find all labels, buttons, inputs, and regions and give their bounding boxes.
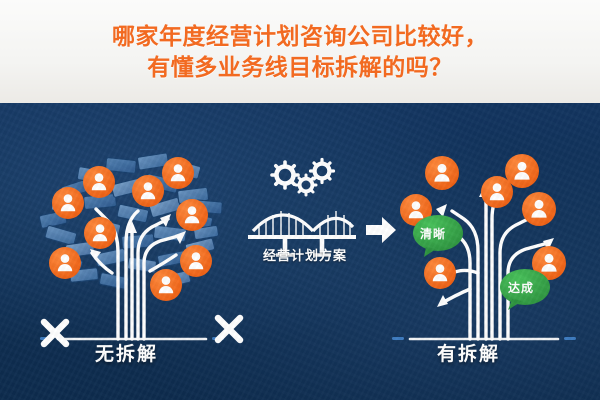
person-badge [505, 154, 539, 188]
title-line-2: 有懂多业务线目标拆解的吗？ [147, 52, 453, 83]
person-badge [132, 175, 164, 207]
right-arrow-icon [366, 217, 396, 243]
person-badge [83, 166, 115, 198]
bubble-label-qingxi: 清晰 [420, 225, 446, 242]
person-badge [522, 192, 556, 226]
person-badge [84, 217, 116, 249]
person-badge [52, 187, 84, 219]
left-cross-mark-1 [44, 322, 66, 344]
caption-right: 有拆解 [437, 339, 500, 366]
gears-icon [272, 160, 334, 196]
person-badge [424, 257, 456, 289]
person-badge [176, 199, 208, 231]
illustration-stage: 经营计划方案 清晰 达成 无拆解 有拆解 [0, 103, 600, 400]
left-cross-mark-2 [218, 318, 240, 340]
poster-header: 哪家年度经营计划咨询公司比较好， 有懂多业务线目标拆解的吗？ [0, 0, 600, 103]
person-badge [150, 269, 182, 301]
person-badge [180, 245, 212, 277]
person-badge [425, 156, 459, 190]
caption-left: 无拆解 [95, 339, 158, 366]
person-badge [49, 247, 81, 279]
person-badge [162, 157, 194, 189]
bubble-label-dacheng: 达成 [508, 279, 534, 296]
center-plan-label: 经营计划方案 [247, 245, 363, 264]
poster-root: 哪家年度经营计划咨询公司比较好， 有懂多业务线目标拆解的吗？ [0, 0, 600, 400]
title-line-1: 哪家年度经营计划咨询公司比较好， [112, 21, 488, 52]
